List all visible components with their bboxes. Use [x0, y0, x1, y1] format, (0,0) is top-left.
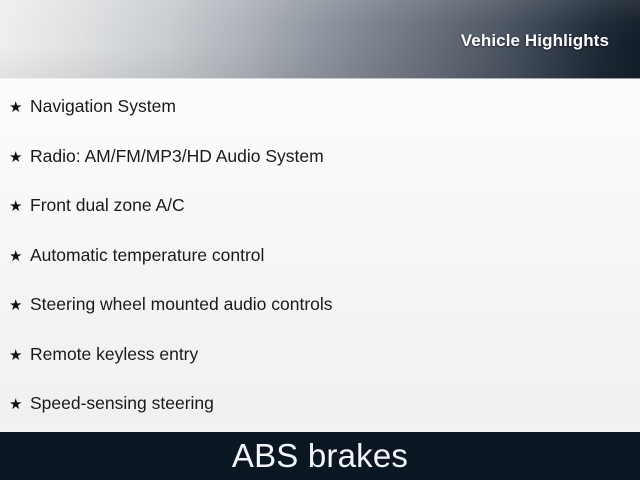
vehicle-highlights-slide: Vehicle Highlights ★Navigation System ★R…	[0, 0, 640, 480]
list-item: ★Remote keyless entry	[0, 330, 640, 380]
list-item-label: Navigation System	[30, 96, 176, 116]
star-icon: ★	[9, 83, 30, 133]
list-item-label: Radio: AM/FM/MP3/HD Audio System	[30, 146, 324, 166]
star-icon: ★	[9, 331, 30, 381]
star-icon: ★	[9, 281, 30, 331]
list-item: ★Navigation System	[0, 82, 640, 132]
list-item: ★Radio: AM/FM/MP3/HD Audio System	[0, 132, 640, 182]
star-icon: ★	[9, 380, 30, 430]
star-icon: ★	[9, 182, 30, 232]
footer-caption: ABS brakes	[232, 437, 408, 475]
list-item: ★Speed-sensing steering	[0, 379, 640, 429]
footer-divider	[0, 425, 640, 432]
list-item-label: Front dual zone A/C	[30, 195, 185, 215]
footer-banner: ABS brakes	[0, 432, 640, 480]
header-banner: Vehicle Highlights	[0, 0, 640, 79]
page-title: Vehicle Highlights	[461, 31, 609, 51]
list-item: ★Front dual zone A/C	[0, 181, 640, 231]
list-item-label: Steering wheel mounted audio controls	[30, 294, 333, 314]
list-item-label: Speed-sensing steering	[30, 393, 214, 413]
header-divider	[0, 78, 640, 79]
star-icon: ★	[9, 232, 30, 282]
list-item: ★Steering wheel mounted audio controls	[0, 280, 640, 330]
list-item: ★Automatic temperature control	[0, 231, 640, 281]
star-icon: ★	[9, 133, 30, 183]
list-item-label: Automatic temperature control	[30, 245, 264, 265]
vehicle-highlights-list: ★Navigation System ★Radio: AM/FM/MP3/HD …	[0, 82, 640, 429]
list-item-label: Remote keyless entry	[30, 344, 198, 364]
